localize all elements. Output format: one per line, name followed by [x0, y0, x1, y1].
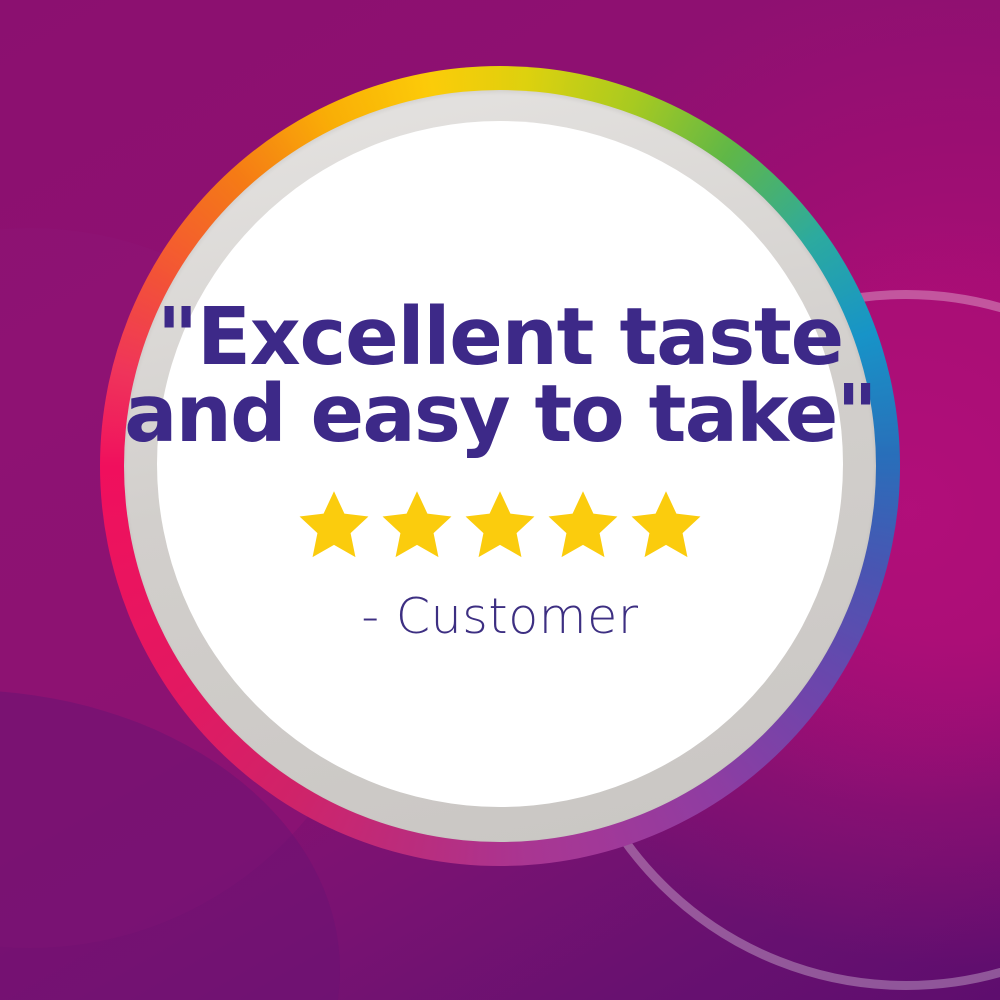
- badge-inner-bevel: "Excellent taste and easy to take": [124, 90, 876, 842]
- star-icon: [542, 486, 624, 564]
- star-rating: [293, 486, 707, 564]
- testimonial-badge-graphic: "Excellent taste and easy to take": [0, 0, 1000, 1000]
- badge-rainbow-ring: "Excellent taste and easy to take": [100, 66, 900, 866]
- star-icon: [293, 486, 375, 564]
- star-icon: [459, 486, 541, 564]
- attribution-label: - Customer: [361, 592, 638, 641]
- quote-line-2: and easy to take": [124, 376, 876, 453]
- quote-line-1: "Excellent taste: [124, 299, 876, 376]
- star-icon: [376, 486, 458, 564]
- testimonial-content: "Excellent taste and easy to take": [157, 299, 843, 641]
- badge-face: "Excellent taste and easy to take": [157, 121, 843, 807]
- quote-text: "Excellent taste and easy to take": [124, 299, 876, 452]
- star-icon: [625, 486, 707, 564]
